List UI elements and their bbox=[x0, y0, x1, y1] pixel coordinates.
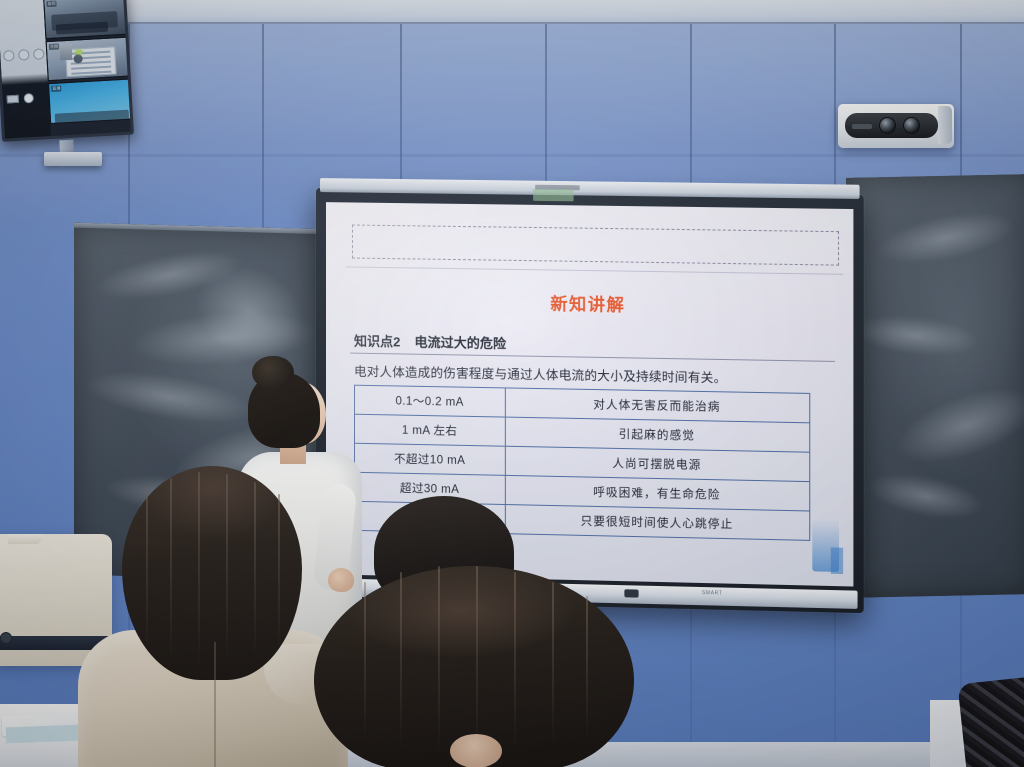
slide-divider bbox=[346, 266, 843, 274]
student-left-jacket-seam bbox=[214, 642, 216, 767]
monitor-feed-label: 监控 bbox=[46, 1, 57, 8]
monitor-feed-label: 文档 bbox=[49, 43, 60, 50]
patterned-bag bbox=[958, 676, 1024, 767]
student-center-hair-tie bbox=[450, 734, 502, 767]
camera-body bbox=[838, 104, 954, 148]
blackboard-right bbox=[846, 174, 1024, 598]
slide-lead-text: 电对人体造成的伤害程度与通过人体电流的大小及持续时间有关。 bbox=[354, 361, 837, 389]
wall-camera[interactable] bbox=[838, 104, 954, 148]
feed-silhouette bbox=[56, 22, 108, 35]
student-center-figure bbox=[318, 496, 630, 767]
monitor-square-button[interactable] bbox=[7, 95, 19, 104]
knowledge-point-heading: 电流过大的危险 bbox=[414, 332, 506, 353]
current-cell: 0.1～0.2 mA bbox=[355, 385, 505, 417]
camera-face bbox=[845, 113, 938, 138]
wall-trim bbox=[0, 154, 1024, 157]
feed-document bbox=[65, 46, 116, 77]
current-cell: 1 mA 左右 bbox=[355, 414, 505, 446]
monitor-power-button[interactable] bbox=[23, 93, 34, 104]
feed-person-dot bbox=[73, 54, 82, 63]
camera-bracket bbox=[60, 44, 72, 60]
wall-monitor[interactable]: 监控 文档 直播 bbox=[0, 0, 134, 142]
camera-sensor-strip bbox=[852, 124, 872, 129]
monitor-wall-mount bbox=[44, 152, 102, 166]
camera-status-led bbox=[76, 50, 82, 54]
classroom-photo: 监控 文档 直播 bbox=[0, 0, 1024, 767]
monitor-feed-cell[interactable]: 直播 bbox=[48, 79, 134, 124]
monitor-body: 监控 文档 直播 bbox=[0, 0, 134, 142]
slide-title: 新知讲解 bbox=[326, 286, 853, 319]
student-left-hair bbox=[122, 466, 302, 680]
slide-placeholder-outline[interactable] bbox=[352, 224, 839, 265]
lectern-notch bbox=[8, 534, 42, 544]
teacher-hair-bun bbox=[252, 356, 294, 390]
monitor-button-bar[interactable] bbox=[7, 93, 35, 104]
student-left-figure bbox=[86, 466, 336, 767]
slide-decoration bbox=[831, 547, 843, 574]
monitor-feed-cell[interactable]: 监控 bbox=[43, 0, 129, 39]
monitor-feed-grid: 监控 文档 直播 bbox=[43, 0, 134, 124]
knowledge-point-tag: 知识点2 bbox=[354, 331, 400, 351]
monitor-feed-cell[interactable]: 文档 bbox=[46, 36, 132, 81]
monitor-side-panel bbox=[0, 0, 51, 139]
green-tab-sticker bbox=[533, 189, 573, 202]
camera-side bbox=[938, 106, 952, 144]
desk-paper bbox=[6, 725, 83, 744]
monitor-dial-icon[interactable] bbox=[3, 50, 15, 62]
monitor-dial-icon[interactable] bbox=[33, 48, 45, 60]
monitor-dial-icon[interactable] bbox=[18, 49, 30, 61]
monitor-control-row[interactable] bbox=[3, 48, 45, 61]
current-cell: 不超过10 mA bbox=[355, 443, 505, 475]
camera-lens-icon bbox=[903, 117, 920, 134]
feed-silhouette bbox=[55, 110, 130, 124]
lectern-knob bbox=[0, 632, 12, 644]
camera-lens-icon bbox=[879, 117, 896, 134]
smartboard-brand-text: SMART bbox=[702, 590, 723, 597]
monitor-feed-label: 直播 bbox=[51, 86, 62, 93]
